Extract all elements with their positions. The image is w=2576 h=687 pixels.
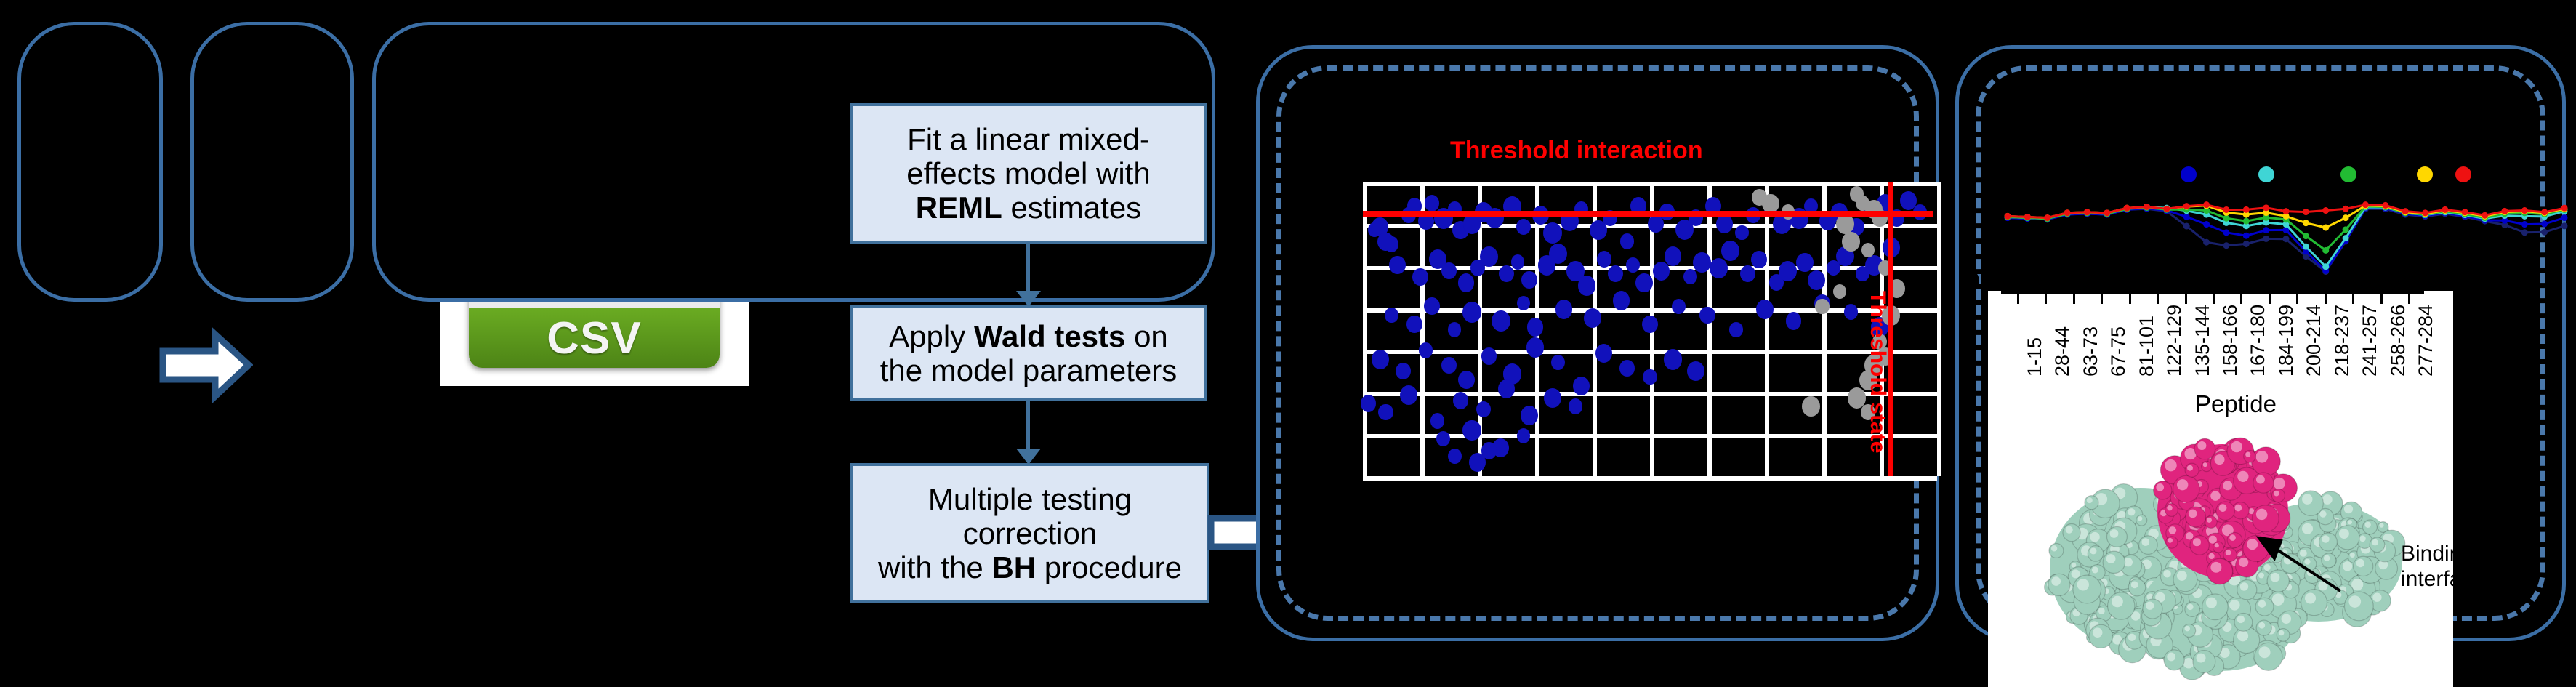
- line-marker: [2183, 203, 2190, 209]
- scatter-point: [1551, 355, 1565, 370]
- line-marker: [2501, 208, 2508, 214]
- scatter-point: [1729, 322, 1742, 337]
- line-marker: [2283, 236, 2290, 242]
- binding-interface-label: Binding interface: [2401, 542, 2484, 592]
- peptide-tick: [2408, 294, 2410, 304]
- line-marker: [2263, 236, 2269, 242]
- scatter-point: [1453, 392, 1468, 409]
- line-marker: [2322, 207, 2329, 214]
- peptide-tick: [2213, 294, 2215, 304]
- line-text: with the: [878, 550, 991, 584]
- peptide-tick: [2101, 294, 2103, 304]
- stage-box-csv: [190, 22, 354, 302]
- scatter-point: [1521, 406, 1538, 425]
- line-marker: [2343, 214, 2349, 221]
- peptide-tick-label: 258-266: [2387, 305, 2410, 377]
- scatter-point: [1710, 258, 1728, 278]
- line-marker: [2005, 213, 2011, 220]
- line-marker: [2303, 233, 2309, 239]
- line-marker: [2322, 225, 2329, 231]
- scatter-point: [1635, 273, 1652, 292]
- line-marker: [2521, 229, 2528, 236]
- line-text: on: [1125, 319, 1167, 353]
- line-marker: [2243, 241, 2250, 247]
- scatter-point: [1597, 251, 1611, 268]
- scatter-point: [1544, 388, 1561, 408]
- scatter-point: [1815, 299, 1829, 314]
- line-marker: [2223, 206, 2229, 213]
- peptide-tick: [2017, 294, 2019, 304]
- line-marker: [2223, 242, 2229, 249]
- legend-dot-timepoint-4: [2417, 166, 2433, 182]
- line-marker: [2104, 209, 2110, 216]
- line-marker: [2223, 229, 2229, 236]
- peptide-tick: [2129, 294, 2131, 304]
- line-marker: [2144, 204, 2150, 210]
- line-marker: [2303, 220, 2309, 226]
- legend-dot-timepoint-5: [2455, 166, 2471, 182]
- binding-interface-label-line2: interface: [2401, 567, 2484, 592]
- line-text-bold: Wald tests: [974, 319, 1125, 353]
- scatter-point: [1462, 420, 1481, 441]
- scatter-point: [1643, 369, 1657, 385]
- csv-label-band: CSV: [469, 308, 720, 368]
- scatter-point: [1385, 308, 1398, 323]
- scatter-point: [1672, 299, 1686, 314]
- legend-dot-timepoint-3: [2340, 166, 2356, 182]
- scatter-point: [1527, 318, 1544, 337]
- scatter-point: [1481, 442, 1497, 459]
- scatter-point: [1802, 396, 1820, 417]
- line-marker: [2263, 227, 2269, 233]
- scatter-point: [1595, 344, 1612, 363]
- scatter-point: [1516, 219, 1531, 236]
- scatter-gridline-horizontal: [1363, 182, 1937, 186]
- threshold-interaction-line: [1363, 211, 1933, 217]
- line-marker: [2482, 212, 2488, 219]
- line-marker: [2322, 263, 2329, 270]
- line-text: the model parameters: [880, 353, 1178, 387]
- connector-fit-to-wald: [1026, 244, 1030, 293]
- peptide-tick: [2380, 294, 2383, 304]
- scatter-point: [1498, 379, 1515, 398]
- line-text-bold: BH: [991, 550, 1036, 584]
- scatter-point: [1619, 360, 1634, 377]
- scatter-point: [1665, 246, 1682, 265]
- line-marker: [2243, 206, 2250, 213]
- line-marker: [2343, 235, 2349, 241]
- line-marker: [2084, 209, 2090, 215]
- scatter-point: [1836, 214, 1854, 234]
- peptide-tick-label: 200-214: [2303, 305, 2325, 377]
- scatter-point: [1526, 337, 1545, 358]
- scatter-point: [1613, 291, 1630, 310]
- scatter-point: [1716, 214, 1733, 233]
- scatter-point: [1419, 342, 1433, 358]
- scatter-point: [1378, 404, 1393, 421]
- line-marker: [2124, 205, 2130, 212]
- line-marker: [2362, 201, 2369, 208]
- line-marker: [2402, 208, 2409, 214]
- threshold-interaction-label: Threshold interaction: [1450, 137, 1703, 165]
- line-marker: [2541, 209, 2548, 215]
- scatter-point: [1779, 261, 1797, 281]
- peptide-tick-label: 28-44: [2051, 326, 2074, 377]
- scatter-point: [1756, 300, 1774, 319]
- scatter-point: [1808, 270, 1825, 290]
- protein-surface-structure: [2028, 413, 2420, 682]
- line-marker: [2343, 206, 2349, 212]
- process-step-multiple-testing[interactable]: Multiple testing correction with the BH …: [850, 463, 1209, 603]
- scatter-point: [1436, 431, 1450, 446]
- line-marker: [2203, 201, 2210, 208]
- legend-dot-timepoint-1: [2181, 166, 2197, 182]
- legend-dot-timepoint-2: [2258, 166, 2274, 182]
- scatter-point: [1481, 347, 1497, 364]
- line-marker: [2203, 221, 2210, 228]
- scatter-point: [1389, 256, 1405, 274]
- line-marker: [2541, 220, 2548, 227]
- scatter-point: [1385, 236, 1399, 252]
- scatter-point: [1492, 310, 1510, 332]
- scatter-point: [1424, 297, 1440, 315]
- peptide-tick: [2269, 294, 2271, 304]
- scatter-point: [1740, 265, 1755, 282]
- line-text: procedure: [1036, 550, 1182, 584]
- peptide-tick: [2185, 294, 2187, 304]
- peptide-tick-label: 241-257: [2359, 305, 2381, 377]
- line-text-bold: REML: [916, 190, 1002, 225]
- scatter-point: [1521, 271, 1537, 289]
- line-marker: [2163, 206, 2170, 212]
- peptide-tick-label: 158-166: [2219, 305, 2242, 377]
- connector-arrowhead-bh: [1016, 449, 1041, 465]
- scatter-point: [1620, 233, 1634, 249]
- scatter-point: [1396, 363, 1411, 380]
- scatter-point: [1664, 349, 1682, 369]
- scatter-point: [1406, 316, 1422, 333]
- scatter-point: [1762, 194, 1779, 213]
- scatter-point: [1361, 395, 1376, 412]
- scatter-point: [1584, 308, 1601, 328]
- scatter-gridline-vertical: [1937, 182, 1941, 476]
- line-marker: [2263, 204, 2269, 211]
- line-marker: [2561, 222, 2568, 229]
- process-step-fit-model[interactable]: Fit a linear mixed- effects model with R…: [850, 103, 1207, 244]
- scatter-point: [1543, 222, 1562, 244]
- scatter-point: [1400, 385, 1417, 405]
- process-step-fit-model-text: Fit a linear mixed- effects model with R…: [899, 122, 1157, 225]
- peptide-tick: [2045, 294, 2047, 304]
- line-marker: [2203, 239, 2210, 246]
- stage-box-empty: [17, 22, 163, 302]
- process-step-multiple-testing-text: Multiple testing correction with the BH …: [874, 482, 1186, 584]
- scatter-point: [1448, 322, 1461, 337]
- scatter-point: [1626, 257, 1640, 273]
- line-marker: [2343, 226, 2349, 233]
- peptide-tick-label: 184-199: [2275, 305, 2298, 377]
- scatter-point: [1842, 232, 1859, 252]
- peptide-tick: [2296, 294, 2298, 304]
- line-marker: [2183, 214, 2190, 220]
- scatter-point: [1425, 195, 1439, 211]
- line-marker: [2322, 247, 2329, 254]
- line-marker: [2442, 206, 2448, 213]
- scatter-point: [1844, 304, 1859, 320]
- peptide-tick: [2073, 294, 2075, 304]
- line-marker: [2303, 244, 2309, 250]
- line-marker: [2064, 209, 2071, 216]
- line-marker: [2382, 202, 2388, 209]
- peptide-tick-label: 67-75: [2107, 326, 2130, 377]
- line-text: correction: [963, 516, 1097, 550]
- scatter-point: [1573, 377, 1590, 395]
- scatter-point: [1642, 316, 1658, 333]
- csv-label-text: CSV: [547, 313, 641, 364]
- line-marker: [2024, 214, 2031, 220]
- scatter-point: [1693, 252, 1711, 273]
- scatter-point: [1653, 262, 1670, 281]
- line-marker: [2243, 233, 2250, 239]
- scatter-point: [1517, 428, 1530, 443]
- scatter-gridline-horizontal: [1363, 476, 1937, 481]
- scatter-point: [1476, 401, 1491, 417]
- scatter-point: [1430, 413, 1444, 429]
- peptide-tick-label: 277-284: [2415, 305, 2437, 377]
- scatter-point: [1735, 225, 1748, 241]
- line-marker: [2521, 207, 2528, 214]
- scatter-point: [1549, 244, 1567, 264]
- peptide-tick-label: 167-180: [2247, 305, 2269, 377]
- scatter-point: [1480, 246, 1498, 267]
- line-marker: [2541, 229, 2548, 236]
- connector-wald-to-bh: [1026, 401, 1030, 451]
- connector-arrowhead-wald: [1016, 291, 1041, 307]
- line-marker: [2223, 215, 2229, 222]
- line-marker: [2183, 223, 2190, 230]
- scatter-point: [1833, 284, 1846, 300]
- peptide-tick: [2325, 294, 2327, 304]
- peptide-tick-label: 218-237: [2331, 305, 2354, 377]
- scatter-point: [1372, 350, 1389, 369]
- y-axis-tick-zero: 0.0: [1968, 269, 1998, 294]
- scatter-point: [1555, 300, 1573, 319]
- scatter-point: [1441, 357, 1457, 374]
- scatter-point: [1721, 241, 1739, 261]
- line-marker: [2303, 209, 2309, 215]
- peptide-uptake-line-chart: [1999, 190, 2573, 276]
- line-marker: [2283, 208, 2290, 214]
- line-text: estimates: [1002, 190, 1141, 225]
- peptide-tick-label: 63-73: [2080, 326, 2102, 377]
- scatter-point: [1448, 449, 1462, 464]
- line-marker: [2521, 221, 2528, 228]
- scatter-point: [1462, 302, 1481, 323]
- figure-canvas: X CSV Fit a linear mixed- effects model …: [0, 0, 2576, 687]
- scatter-point: [1687, 361, 1704, 381]
- peptide-tick-label: 135-144: [2191, 305, 2214, 377]
- scatter-point: [1569, 398, 1582, 414]
- process-step-wald-tests-text: Apply Wald tests on the model parameters: [873, 319, 1185, 387]
- scatter-point: [1796, 253, 1814, 272]
- peptide-tick-label: 1-15: [2024, 337, 2046, 377]
- scatter-point: [1608, 265, 1622, 282]
- scatter-point: [1786, 312, 1802, 329]
- peptide-tick: [2352, 294, 2354, 304]
- arrow-stage1-to-csv: [158, 327, 253, 403]
- scatter-point: [1751, 251, 1767, 268]
- line-marker: [2561, 205, 2568, 212]
- scatter-point: [1458, 371, 1475, 389]
- scatter-point: [1412, 268, 1428, 286]
- line-marker: [2243, 218, 2250, 225]
- threshold-state-label: Threshold state: [1865, 291, 1890, 453]
- line-marker: [2462, 209, 2468, 215]
- scatter-gridline-horizontal: [1363, 350, 1937, 354]
- binding-interface-label-line1: Binding: [2401, 542, 2484, 567]
- line-text: Apply: [889, 319, 974, 353]
- line-marker: [2044, 214, 2050, 221]
- line-text: Multiple testing: [928, 482, 1132, 516]
- volcano-scatter-plot: [1363, 182, 1937, 476]
- line-text: effects model with: [906, 156, 1150, 190]
- scatter-point: [1699, 307, 1715, 324]
- line-text: Fit a linear mixed-: [907, 122, 1150, 156]
- scatter-point: [1441, 262, 1457, 279]
- line-marker: [2422, 209, 2428, 216]
- scatter-point: [1458, 273, 1475, 292]
- peptide-tick: [2157, 294, 2159, 304]
- process-step-wald-tests[interactable]: Apply Wald tests on the model parameters: [850, 305, 1207, 401]
- scatter-point: [1683, 269, 1697, 284]
- line-marker: [2561, 214, 2568, 221]
- peptide-tick-label: 81-101: [2136, 316, 2158, 377]
- peptide-tick-label: 122-129: [2163, 305, 2186, 377]
- scatter-point: [1499, 265, 1514, 282]
- peptide-tick: [2240, 294, 2242, 304]
